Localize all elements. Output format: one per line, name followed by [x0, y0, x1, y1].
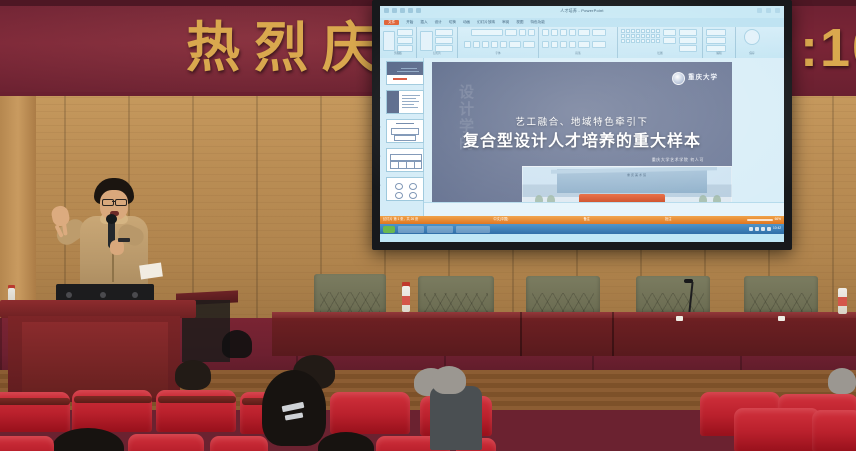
- increase-font-icon[interactable]: [519, 29, 526, 36]
- system-tray[interactable]: 10:42: [749, 227, 781, 231]
- section-icon[interactable]: [435, 45, 453, 52]
- audience-seat: [330, 392, 410, 434]
- audience-seat: [210, 436, 268, 451]
- shadow-icon[interactable]: [491, 41, 498, 48]
- ribbon-group-paragraph[interactable]: 段落: [539, 27, 618, 58]
- zoom-level: 66%: [775, 218, 781, 221]
- decrease-font-icon[interactable]: [528, 29, 535, 36]
- language-indicator[interactable]: 中文(中国): [493, 218, 508, 221]
- microphone-capsule-icon: [684, 279, 693, 283]
- increase-indent-icon[interactable]: [569, 29, 576, 36]
- character-spacing-icon[interactable]: [509, 41, 521, 48]
- presenter-left-hand: [110, 240, 124, 255]
- underline-icon[interactable]: [482, 41, 489, 48]
- university-logo: 重庆大学: [672, 72, 718, 85]
- ribbon-group-label-save: 保存: [739, 53, 765, 56]
- start-button[interactable]: [383, 226, 395, 233]
- ribbon-group-label-paragraph: 段落: [542, 53, 614, 56]
- banner-text-left: 热烈庆: [186, 8, 390, 88]
- audience-seat: [812, 410, 856, 451]
- cut-icon[interactable]: [397, 29, 413, 36]
- arrange-icon[interactable]: [663, 29, 676, 36]
- lectern-front-panel: [22, 322, 168, 398]
- find-icon[interactable]: [706, 29, 726, 36]
- ribbon-group-slides[interactable]: 幻灯片: [417, 27, 458, 58]
- paste-icon[interactable]: [383, 31, 395, 51]
- tab-design[interactable]: 设计: [435, 21, 442, 25]
- restore-icon[interactable]: [766, 8, 771, 13]
- tab-transitions[interactable]: 切换: [449, 21, 456, 25]
- bottle-label: [838, 297, 847, 306]
- audience-person-body: [430, 386, 482, 450]
- slide-thumbnail[interactable]: [386, 90, 424, 114]
- ribbon-group-label-slides: 幻灯片: [420, 53, 454, 56]
- slide-indicator: 幻灯片 第 1 张，共 26 张: [383, 218, 418, 221]
- conference-table: [272, 312, 856, 356]
- floor-speaker: [222, 330, 252, 358]
- conference-chair: [636, 276, 710, 314]
- close-icon[interactable]: [775, 8, 780, 13]
- equipment-knob: [132, 292, 138, 298]
- audience-seat: [734, 408, 820, 451]
- slide-thumbnail-pane[interactable]: 1 2 3: [380, 58, 424, 226]
- replace-icon[interactable]: [706, 37, 726, 44]
- taskbar-item-powerpoint[interactable]: [456, 226, 490, 233]
- wristwatch: [118, 238, 130, 242]
- bullets-icon[interactable]: [542, 29, 549, 36]
- wood-column-left: [0, 60, 36, 336]
- reset-icon[interactable]: [435, 37, 453, 44]
- columns-icon[interactable]: [578, 41, 590, 48]
- tab-home[interactable]: 开始: [406, 21, 413, 25]
- ribbon-group-drawing[interactable]: 绘图: [618, 27, 703, 58]
- window-title: 人才培养 - PowerPoint: [380, 9, 784, 13]
- tab-file[interactable]: 文件: [384, 20, 399, 26]
- slide-thumbnail[interactable]: [386, 119, 424, 143]
- conference-chair: [744, 276, 818, 314]
- taskbar-item-explorer[interactable]: [398, 226, 424, 233]
- volume-icon[interactable]: [755, 227, 759, 231]
- numbering-icon[interactable]: [551, 29, 558, 36]
- university-logo-text: 重庆大学: [688, 75, 718, 82]
- audience-head: [828, 368, 856, 394]
- tab-insert[interactable]: 插入: [420, 21, 427, 25]
- microphone-head-icon: [106, 214, 117, 224]
- taskbar-clock: 10:42: [773, 227, 781, 230]
- comments-button[interactable]: 批注: [665, 218, 671, 221]
- ribbon-group-editing[interactable]: 编辑: [703, 27, 736, 58]
- seat-armrest: [74, 396, 152, 403]
- new-slide-icon[interactable]: [420, 31, 433, 51]
- slide-title: 复合型设计人才培养的重大样本: [432, 134, 732, 150]
- slide-subtitle: 艺工融合、地域特色牵引下: [432, 118, 732, 128]
- font-family-select[interactable]: [471, 29, 503, 36]
- layout-icon[interactable]: [435, 29, 453, 36]
- italic-icon[interactable]: [473, 41, 480, 48]
- bottle-label: [402, 296, 410, 305]
- conference-chair: [314, 274, 386, 314]
- tab-features[interactable]: 特色功能: [530, 21, 544, 25]
- shape-outline-icon[interactable]: [679, 37, 697, 44]
- conference-chair: [526, 276, 600, 314]
- slide-byline: 重庆大学艺术学院 何人可: [652, 158, 704, 162]
- status-bar[interactable]: 幻灯片 第 1 张，共 26 张 中文(中国) 备注 批注 66%: [380, 216, 784, 224]
- ime-icon[interactable]: [761, 227, 765, 231]
- font-color-icon[interactable]: [523, 41, 535, 48]
- photo-caption: 重庆美术馆: [627, 174, 647, 177]
- table-cup: [778, 316, 785, 321]
- slide-thumbnail[interactable]: [386, 148, 424, 172]
- network-icon[interactable]: [749, 227, 753, 231]
- minimize-icon[interactable]: [757, 8, 762, 13]
- university-seal-icon: [672, 72, 685, 85]
- audience-head: [175, 360, 211, 390]
- shape-effects-icon[interactable]: [679, 45, 697, 52]
- seat-armrest: [158, 396, 236, 403]
- taskbar-item-browser[interactable]: [427, 226, 453, 233]
- glasses-right-lens-icon: [115, 199, 127, 206]
- line-spacing-icon[interactable]: [578, 29, 590, 36]
- audience-seat: [128, 434, 204, 451]
- text-direction-icon[interactable]: [592, 29, 606, 36]
- ribbon-group-clipboard[interactable]: 剪贴板: [380, 27, 417, 58]
- windows-taskbar[interactable]: 10:42: [380, 224, 784, 234]
- equipment-knob: [66, 292, 72, 298]
- align-right-icon[interactable]: [560, 41, 567, 48]
- conference-chair: [418, 276, 494, 314]
- ribbon-group-label-editing: 编辑: [706, 53, 732, 56]
- decrease-indent-icon[interactable]: [560, 29, 567, 36]
- tab-review[interactable]: 审阅: [502, 21, 509, 25]
- ribbon[interactable]: 剪贴板 幻灯片: [380, 27, 784, 59]
- font-size-select[interactable]: [505, 29, 517, 36]
- battery-icon[interactable]: [767, 227, 771, 231]
- slide-editing-area[interactable]: 设计学的 重庆大学 艺工融合、地域特色牵引下 复合型设计人才培养的重大样本 重庆…: [424, 58, 784, 226]
- slide-thumbnail[interactable]: [386, 61, 424, 85]
- ribbon-tab-bar[interactable]: 文件 开始 插入 设计 切换 动画 幻灯片放映 审阅 视图 特色功能: [380, 18, 784, 27]
- shapes-gallery[interactable]: [621, 29, 660, 43]
- strikethrough-icon[interactable]: [500, 41, 507, 48]
- notes-pane[interactable]: [424, 202, 784, 217]
- ribbon-group-font[interactable]: 字体: [458, 27, 539, 58]
- current-slide[interactable]: 设计学的 重庆大学 艺工融合、地域特色牵引下 复合型设计人才培养的重大样本 重庆…: [432, 62, 732, 212]
- copy-icon[interactable]: [397, 37, 413, 44]
- audience-head-foreground: [318, 432, 374, 451]
- slide-thumbnail[interactable]: [386, 177, 424, 201]
- ribbon-group-label-clipboard: 剪贴板: [383, 53, 413, 56]
- table-edge: [272, 312, 856, 318]
- tab-view[interactable]: 视图: [516, 21, 523, 25]
- seat-armrest: [0, 398, 70, 405]
- conference-hall-photo: 热烈庆 :10 人才培养 - PowerPoint 文件: [0, 0, 856, 451]
- notes-button[interactable]: 备注: [583, 218, 589, 221]
- glasses-bridge: [112, 201, 115, 202]
- projection-screen[interactable]: 人才培养 - PowerPoint 文件 开始 插入 设计 切换 动画 幻灯片放…: [380, 6, 784, 242]
- zoom-slider[interactable]: [747, 219, 773, 221]
- audience-head: [432, 366, 466, 394]
- ribbon-group-label-drawing: 绘图: [621, 53, 699, 56]
- table-seam: [612, 312, 614, 356]
- equipment-knob: [100, 292, 106, 298]
- quick-styles-icon[interactable]: [663, 37, 676, 44]
- bold-icon[interactable]: [464, 41, 471, 48]
- banner-text-right: :10: [800, 8, 856, 88]
- table-cup: [676, 316, 683, 321]
- format-painter-icon[interactable]: [397, 45, 413, 52]
- cloud-save-icon[interactable]: [744, 29, 760, 45]
- align-center-icon[interactable]: [551, 41, 558, 48]
- convert-smartart-icon[interactable]: [592, 41, 606, 48]
- table-seam: [520, 312, 522, 356]
- tab-animations[interactable]: 动画: [463, 21, 470, 25]
- shape-fill-icon[interactable]: [679, 29, 697, 36]
- audience-seat: [0, 436, 54, 451]
- ribbon-group-save[interactable]: 保存: [736, 27, 768, 58]
- window-buttons[interactable]: [757, 8, 780, 13]
- align-left-icon[interactable]: [542, 41, 549, 48]
- zoom-control[interactable]: 66%: [747, 218, 781, 221]
- justify-icon[interactable]: [569, 41, 576, 48]
- presenter-notes-paper: [139, 263, 163, 280]
- ribbon-group-label-font: 字体: [461, 53, 535, 56]
- tab-slideshow[interactable]: 幻灯片放映: [477, 21, 495, 25]
